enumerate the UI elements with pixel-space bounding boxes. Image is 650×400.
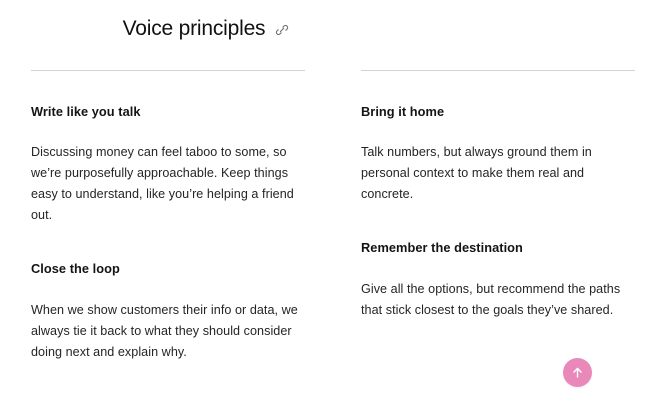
voice-principles-page: Voice principles Write like you talk Dis… (0, 0, 650, 400)
principle-item: Remember the destination Give all the op… (361, 239, 635, 320)
arrow-up-icon (569, 364, 586, 381)
principles-column-left: Write like you talk Discussing money can… (31, 70, 305, 363)
principle-body: Discussing money can feel taboo to some,… (31, 142, 305, 226)
page-title: Voice principles (123, 16, 266, 42)
principle-item: Close the loop When we show customers th… (31, 260, 305, 362)
principle-heading: Write like you talk (31, 103, 305, 120)
principle-body: When we show customers their info or dat… (31, 300, 305, 363)
principle-item: Bring it home Talk numbers, but always g… (361, 103, 635, 205)
column-divider-right (361, 70, 635, 71)
principle-heading: Close the loop (31, 260, 305, 277)
principle-body: Talk numbers, but always ground them in … (361, 142, 635, 205)
scroll-to-top-button[interactable] (563, 358, 592, 387)
principle-body: Give all the options, but recommend the … (361, 279, 635, 321)
column-divider-left (31, 70, 305, 71)
principle-item: Write like you talk Discussing money can… (31, 103, 305, 226)
principles-column-right: Bring it home Talk numbers, but always g… (361, 70, 635, 363)
principle-heading: Bring it home (361, 103, 635, 120)
link-icon[interactable] (274, 22, 290, 38)
page-title-row: Voice principles (0, 16, 413, 42)
principles-columns: Write like you talk Discussing money can… (31, 70, 639, 363)
principle-heading: Remember the destination (361, 239, 635, 256)
